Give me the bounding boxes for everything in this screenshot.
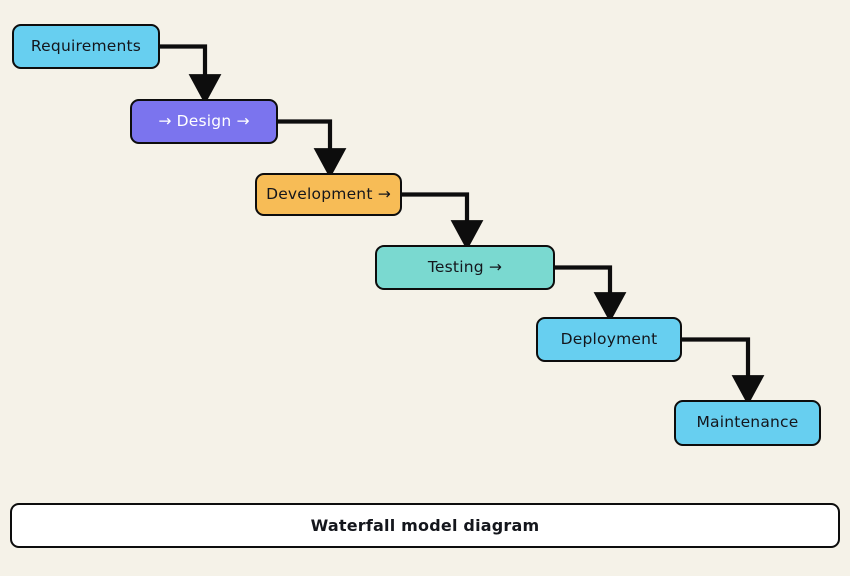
node-testing-label: Testing → [428, 260, 502, 276]
node-testing[interactable]: Testing → [375, 245, 555, 290]
diagram-canvas: Requirements → Design → Development → Te… [0, 0, 850, 576]
edge-deployment-to-maintenance [682, 340, 748, 390]
node-requirements[interactable]: Requirements [12, 24, 160, 69]
node-design[interactable]: → Design → [130, 99, 278, 144]
node-maintenance-label: Maintenance [696, 415, 798, 431]
node-maintenance[interactable]: Maintenance [674, 400, 821, 446]
node-development[interactable]: Development → [255, 173, 402, 216]
node-deployment[interactable]: Deployment [536, 317, 682, 362]
node-deployment-label: Deployment [561, 332, 658, 348]
caption-box: Waterfall model diagram [10, 503, 840, 548]
edge-testing-to-deployment [555, 268, 610, 307]
edge-development-to-testing [402, 195, 467, 235]
caption-text: Waterfall model diagram [311, 516, 540, 535]
node-development-label: Development → [266, 187, 391, 203]
node-requirements-label: Requirements [31, 39, 141, 55]
node-design-label: → Design → [158, 114, 249, 130]
edge-requirements-to-design [160, 47, 205, 89]
edge-design-to-development [278, 122, 330, 163]
